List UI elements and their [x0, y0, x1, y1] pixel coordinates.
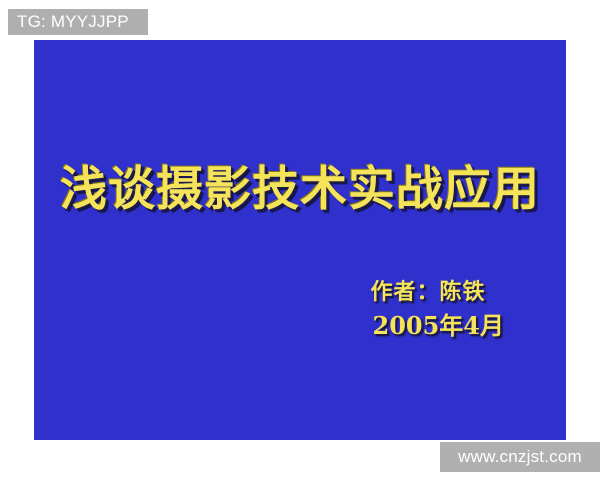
presentation-slide: 浅谈摄影技术实战应用 作者：陈铁 2005年4月: [34, 40, 566, 440]
author-block: 作者：陈铁 2005年4月: [371, 278, 505, 341]
author-date: 2005年4月: [371, 310, 505, 341]
site-watermark: www.cnzjst.com: [440, 442, 600, 472]
author-byline: 作者：陈铁: [371, 278, 505, 308]
tg-watermark-badge: TG: MYYJJPP: [8, 9, 148, 35]
slide-title: 浅谈摄影技术实战应用: [34, 165, 566, 214]
